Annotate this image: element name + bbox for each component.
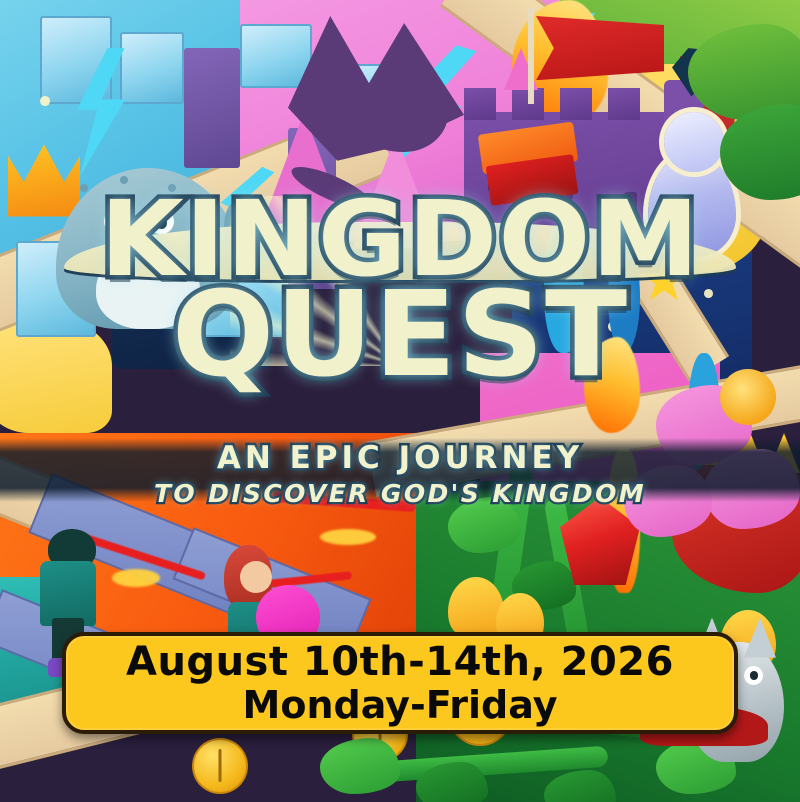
vbs-poster: KINGDOM QUEST AN EPIC JOURNEY TO DISCOVE… <box>0 0 800 802</box>
kid-dark-shirt <box>40 561 96 625</box>
date-banner: August 10th-14th, 2026 Monday-Friday <box>62 632 738 734</box>
date-line-2: Monday-Friday <box>243 686 558 724</box>
subtitle-block: AN EPIC JOURNEY TO DISCOVER GOD'S KINGDO… <box>0 440 800 508</box>
subtitle-line-1: AN EPIC JOURNEY <box>0 440 800 476</box>
sparkle-3 <box>40 96 50 106</box>
jungle-leaf-3 <box>320 738 400 794</box>
castle-flag <box>536 16 664 80</box>
dragon-body <box>352 72 448 152</box>
ice-tower-dark <box>184 48 240 168</box>
castle-merlon-1 <box>464 88 496 120</box>
gold-coin-3 <box>192 738 248 794</box>
date-line-1: August 10th-14th, 2026 <box>126 642 674 682</box>
castle-merlon-3 <box>560 88 592 120</box>
lava-pool-1 <box>112 569 160 587</box>
title-block: KINGDOM QUEST <box>0 196 800 384</box>
ice-block-3 <box>240 24 312 88</box>
subtitle-line-2: TO DISCOVER GOD'S KINGDOM <box>0 479 800 508</box>
castle-merlon-4 <box>608 88 640 120</box>
castle-flagpole <box>528 8 534 104</box>
title-line-quest: QUEST <box>0 285 800 384</box>
game-pawn-head <box>664 112 724 172</box>
ice-block-2 <box>120 32 184 104</box>
